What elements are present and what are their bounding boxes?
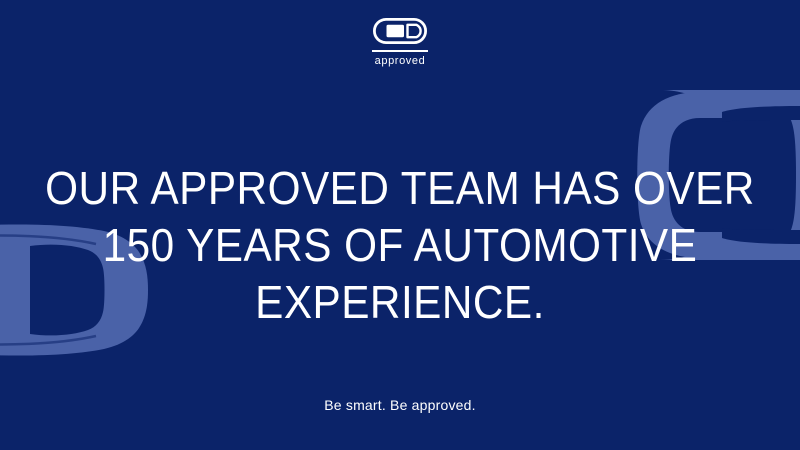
headline-line-3: EXPERIENCE. (32, 274, 768, 331)
headline: OUR APPROVED TEAM HAS OVER 150 YEARS OF … (32, 160, 768, 331)
promo-slide: approved OUR APPROVED TEAM HAS OVER 150 … (0, 0, 800, 450)
brand-divider (372, 50, 428, 52)
tagline: Be smart. Be approved. (0, 398, 800, 412)
headline-line-1: OUR APPROVED TEAM HAS OVER (32, 160, 768, 217)
headline-line-2: 150 YEARS OF AUTOMOTIVE (32, 217, 768, 274)
brand-lockup: approved (0, 18, 800, 67)
car-top-view-icon (373, 18, 427, 44)
brand-wordmark: approved (375, 56, 426, 67)
